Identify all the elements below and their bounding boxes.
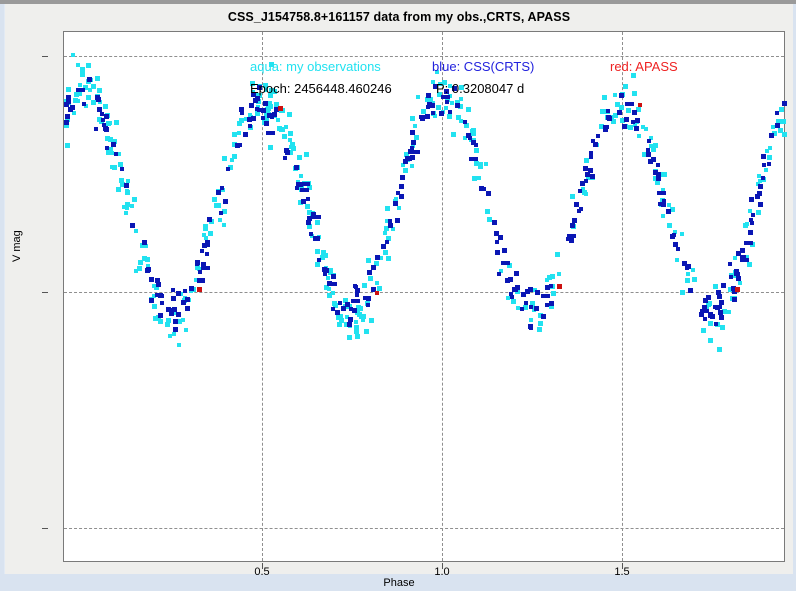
- legend-entry-red: red: APASS: [610, 59, 678, 74]
- data-point: [341, 306, 346, 311]
- data-point: [357, 312, 362, 317]
- data-point: [351, 299, 360, 303]
- data-point: [208, 231, 213, 236]
- data-point: [623, 84, 628, 89]
- data-point: [104, 127, 109, 132]
- data-point: [692, 277, 697, 282]
- data-point: [203, 224, 208, 229]
- data-point: [555, 252, 560, 257]
- data-point: [106, 150, 111, 155]
- data-point: [243, 132, 248, 137]
- data-point: [661, 214, 665, 218]
- data-point: [80, 72, 85, 77]
- data-point: [296, 182, 300, 186]
- data-point: [675, 258, 679, 262]
- data-point: [287, 112, 292, 117]
- data-point: [570, 194, 575, 199]
- data-point: [529, 305, 533, 309]
- data-point: [173, 327, 178, 332]
- legend-entry-aqua: aqua: my observations: [250, 59, 381, 74]
- data-point: [680, 290, 685, 295]
- data-point: [718, 310, 723, 315]
- data-point: [323, 272, 327, 276]
- data-point: [198, 270, 202, 274]
- data-point: [736, 272, 740, 276]
- data-point: [165, 322, 170, 327]
- data-point: [662, 172, 667, 177]
- data-point: [158, 313, 163, 318]
- data-point: [355, 334, 360, 339]
- data-point: [699, 312, 704, 317]
- data-point: [634, 126, 639, 131]
- data-point: [264, 121, 269, 126]
- data-point: [779, 107, 784, 112]
- data-point: [557, 284, 562, 289]
- data-point: [757, 174, 761, 178]
- data-point: [235, 143, 240, 148]
- data-point: [673, 242, 678, 247]
- data-point: [281, 128, 285, 132]
- data-point: [719, 315, 724, 320]
- data-point: [583, 166, 588, 171]
- data-point: [596, 134, 600, 138]
- data-point: [102, 123, 106, 127]
- data-point: [426, 105, 430, 109]
- chart-panel: CSS_J154758.8+161157 data from my obs.,C…: [4, 4, 793, 574]
- data-point: [574, 202, 579, 207]
- data-point: [130, 223, 135, 228]
- data-point: [306, 197, 310, 201]
- data-point: [680, 232, 684, 236]
- data-point: [202, 233, 206, 237]
- data-point: [379, 256, 383, 260]
- data-point: [261, 116, 265, 120]
- data-point: [248, 124, 252, 128]
- data-point: [632, 110, 637, 115]
- data-point: [332, 301, 337, 306]
- data-point: [368, 276, 373, 281]
- data-point: [205, 240, 210, 245]
- data-point: [216, 190, 221, 195]
- data-point: [666, 209, 671, 214]
- y-axis-tick: [42, 56, 48, 57]
- data-point: [701, 328, 706, 333]
- data-point: [508, 277, 513, 282]
- epoch-annotation: Epoch: 2456448.460246: [250, 81, 392, 96]
- data-point: [399, 184, 404, 189]
- data-point: [395, 218, 400, 223]
- data-point: [88, 88, 92, 92]
- data-point: [631, 73, 636, 78]
- data-point: [220, 186, 224, 190]
- data-point: [469, 157, 478, 161]
- data-point: [750, 221, 754, 225]
- data-point: [459, 97, 463, 101]
- data-point: [124, 183, 129, 188]
- data-point: [765, 149, 769, 153]
- data-point: [399, 194, 404, 199]
- data-point: [366, 303, 370, 307]
- data-point: [513, 287, 518, 292]
- data-point: [439, 111, 444, 116]
- data-point: [578, 189, 582, 193]
- data-point: [738, 281, 742, 285]
- data-point: [703, 317, 707, 321]
- data-point: [761, 154, 766, 159]
- data-point: [311, 212, 316, 217]
- data-point: [416, 95, 420, 99]
- data-point: [306, 220, 311, 225]
- data-point: [375, 291, 379, 295]
- data-point: [466, 107, 471, 112]
- data-point: [94, 127, 98, 131]
- data-point: [600, 109, 605, 114]
- data-point: [676, 247, 680, 251]
- data-point: [375, 255, 380, 260]
- data-point: [632, 91, 637, 96]
- data-point: [66, 87, 71, 92]
- data-point: [708, 321, 713, 326]
- data-point: [778, 128, 783, 133]
- data-point: [87, 77, 92, 82]
- data-point: [577, 209, 581, 213]
- data-point: [602, 95, 607, 100]
- data-point: [657, 191, 666, 195]
- data-point: [638, 103, 642, 107]
- data-point: [656, 176, 661, 181]
- data-point: [166, 318, 171, 323]
- data-point: [567, 234, 576, 238]
- data-point: [463, 120, 467, 124]
- data-point: [171, 288, 175, 292]
- data-point: [748, 230, 753, 235]
- data-point: [103, 104, 108, 109]
- data-point: [268, 145, 273, 150]
- period-annotation: P: 0.3208047 d: [436, 81, 524, 96]
- data-point: [644, 127, 648, 131]
- data-point: [232, 154, 237, 159]
- data-point: [411, 140, 416, 145]
- data-point: [764, 168, 768, 172]
- data-point: [524, 301, 528, 305]
- data-point: [528, 287, 533, 292]
- data-point: [149, 277, 154, 282]
- data-point: [431, 111, 435, 115]
- data-point: [569, 238, 574, 243]
- data-point: [152, 304, 157, 309]
- data-point: [745, 222, 749, 226]
- data-point: [405, 156, 410, 161]
- data-point: [348, 317, 353, 322]
- data-point: [309, 232, 313, 236]
- data-point: [95, 95, 100, 100]
- data-point: [410, 116, 415, 121]
- data-point: [130, 204, 134, 208]
- data-point: [100, 112, 104, 116]
- data-point: [71, 53, 75, 57]
- data-point: [116, 187, 121, 192]
- data-point: [637, 134, 641, 138]
- x-axis-tick-label: 0.5: [254, 566, 269, 578]
- data-point: [477, 176, 481, 180]
- data-point: [478, 164, 483, 169]
- data-point: [411, 150, 420, 154]
- data-point: [410, 146, 414, 150]
- data-point: [173, 319, 178, 324]
- data-point: [297, 155, 302, 160]
- data-point: [288, 131, 293, 136]
- data-point: [758, 202, 763, 207]
- data-point: [450, 101, 454, 105]
- data-point: [617, 110, 622, 115]
- data-point: [339, 318, 344, 323]
- data-point: [284, 148, 289, 153]
- data-point: [138, 260, 143, 265]
- data-point: [388, 223, 393, 228]
- data-point: [142, 240, 147, 245]
- data-point: [364, 329, 369, 334]
- data-point: [76, 88, 85, 92]
- data-point: [717, 347, 722, 352]
- data-point: [667, 223, 672, 228]
- data-point: [647, 139, 651, 143]
- data-point: [347, 335, 352, 340]
- data-point: [327, 287, 331, 291]
- data-point: [658, 202, 662, 206]
- data-point: [105, 136, 110, 141]
- data-point: [727, 310, 731, 314]
- data-point: [686, 272, 690, 276]
- data-point: [171, 296, 176, 301]
- data-point: [300, 188, 309, 192]
- data-point: [108, 121, 112, 125]
- data-point: [237, 131, 241, 135]
- data-point: [445, 100, 449, 104]
- data-point: [278, 106, 283, 111]
- data-point: [685, 278, 690, 283]
- data-point: [691, 268, 695, 272]
- data-point: [207, 217, 212, 222]
- data-point: [354, 320, 358, 324]
- data-point: [177, 343, 181, 347]
- gridline-horizontal: [64, 56, 784, 57]
- data-point: [551, 291, 556, 296]
- data-point: [474, 143, 478, 147]
- data-point: [362, 283, 367, 288]
- data-point: [383, 231, 387, 235]
- data-point: [73, 98, 78, 103]
- data-point: [736, 251, 741, 256]
- data-point: [375, 281, 379, 285]
- data-point: [717, 294, 722, 299]
- data-point: [137, 266, 142, 271]
- data-point: [265, 107, 270, 112]
- data-point: [732, 297, 737, 302]
- x-axis-tick-label: 1.0: [434, 566, 449, 578]
- data-point: [112, 165, 117, 170]
- data-point: [570, 223, 575, 228]
- data-point: [347, 322, 352, 327]
- data-point: [125, 189, 129, 193]
- page-title: CSS_J154758.8+161157 data from my obs.,C…: [5, 10, 793, 24]
- data-point: [722, 309, 727, 314]
- data-point: [635, 118, 640, 123]
- data-point: [741, 255, 746, 260]
- data-point: [713, 305, 722, 309]
- data-point: [338, 301, 342, 305]
- data-point: [176, 312, 181, 317]
- data-point: [160, 294, 164, 298]
- data-point: [486, 191, 491, 196]
- data-point: [447, 114, 452, 119]
- y-axis-tick: [42, 292, 48, 293]
- data-point: [767, 155, 772, 160]
- data-point: [451, 132, 456, 137]
- data-point: [354, 285, 358, 289]
- data-point: [97, 88, 102, 93]
- data-point: [317, 258, 321, 262]
- data-point: [653, 170, 658, 175]
- data-point: [66, 95, 71, 100]
- data-point: [197, 287, 202, 292]
- data-point: [331, 291, 335, 295]
- data-point: [733, 256, 737, 260]
- data-point: [160, 301, 164, 305]
- y-axis-title: V mag: [11, 230, 23, 262]
- data-point: [528, 324, 533, 329]
- data-point: [485, 209, 490, 214]
- data-point: [65, 114, 70, 119]
- data-point: [105, 146, 109, 150]
- data-point: [619, 93, 624, 98]
- data-point: [299, 174, 303, 178]
- data-point: [708, 338, 713, 343]
- data-point: [775, 111, 779, 115]
- data-point: [114, 152, 118, 156]
- data-point: [606, 115, 611, 120]
- data-point: [367, 270, 372, 275]
- plot-area: aqua: my observations blue: CSS(CRTS) re…: [63, 31, 785, 562]
- data-point: [529, 318, 533, 322]
- data-point: [589, 155, 593, 159]
- data-point: [672, 233, 676, 237]
- data-point: [757, 191, 762, 196]
- data-point: [729, 275, 733, 279]
- data-point: [288, 138, 292, 142]
- data-point: [626, 108, 631, 113]
- data-point: [335, 310, 340, 315]
- data-point: [283, 156, 287, 160]
- data-point: [534, 306, 539, 311]
- data-point: [366, 258, 371, 263]
- data-point: [355, 293, 359, 297]
- data-point: [291, 146, 296, 151]
- data-point: [185, 306, 190, 311]
- data-point: [582, 190, 587, 195]
- data-point: [703, 298, 708, 303]
- data-point: [261, 108, 266, 113]
- data-point: [400, 175, 405, 180]
- data-point: [545, 303, 549, 307]
- data-point: [448, 110, 452, 114]
- data-point: [155, 293, 159, 297]
- data-point: [495, 250, 500, 255]
- data-point: [249, 103, 254, 108]
- data-point: [124, 211, 128, 215]
- data-point: [761, 176, 765, 180]
- data-point: [471, 131, 476, 136]
- data-point: [541, 314, 546, 319]
- data-point: [95, 76, 100, 81]
- data-point: [537, 327, 542, 332]
- data-point: [510, 295, 514, 299]
- data-point: [430, 103, 435, 108]
- data-point: [185, 297, 190, 302]
- data-point: [708, 312, 713, 317]
- data-point: [495, 240, 499, 244]
- data-point: [520, 307, 524, 311]
- data-point: [541, 294, 550, 298]
- data-point: [721, 283, 726, 288]
- data-point: [557, 272, 561, 276]
- x-axis-tick-label: 1.5: [614, 566, 629, 578]
- data-point: [631, 120, 635, 124]
- data-point: [237, 121, 242, 126]
- data-point: [184, 328, 188, 332]
- data-point: [176, 291, 181, 296]
- data-point: [622, 124, 627, 129]
- data-point: [315, 236, 320, 241]
- data-point: [86, 63, 91, 68]
- data-point: [749, 197, 754, 202]
- data-point: [324, 268, 329, 273]
- data-point: [381, 244, 386, 249]
- data-point: [114, 120, 119, 125]
- data-point: [720, 325, 725, 330]
- data-point: [455, 103, 460, 108]
- data-point: [413, 124, 417, 128]
- data-point: [145, 257, 150, 262]
- data-point: [197, 278, 202, 283]
- data-point: [410, 164, 414, 168]
- data-point: [282, 134, 287, 139]
- data-point: [590, 174, 595, 179]
- data-point: [403, 168, 408, 173]
- data-point: [492, 220, 497, 225]
- data-point: [611, 119, 616, 124]
- data-point: [484, 162, 488, 166]
- data-point: [74, 92, 79, 97]
- chart-window: CSS_J154758.8+161157 data from my obs.,C…: [0, 0, 796, 591]
- data-point: [383, 250, 388, 255]
- data-point: [388, 219, 392, 223]
- data-point: [168, 334, 172, 338]
- data-point: [101, 118, 105, 122]
- data-point: [624, 117, 629, 122]
- data-point: [266, 131, 275, 135]
- data-point: [172, 332, 176, 336]
- data-point: [769, 133, 774, 138]
- data-point: [219, 211, 223, 215]
- data-point: [782, 101, 787, 106]
- data-point: [736, 276, 741, 281]
- data-point: [145, 268, 150, 273]
- data-point: [744, 241, 753, 245]
- data-point: [78, 92, 82, 96]
- data-point: [223, 199, 228, 204]
- data-point: [331, 274, 336, 279]
- data-point: [251, 116, 256, 121]
